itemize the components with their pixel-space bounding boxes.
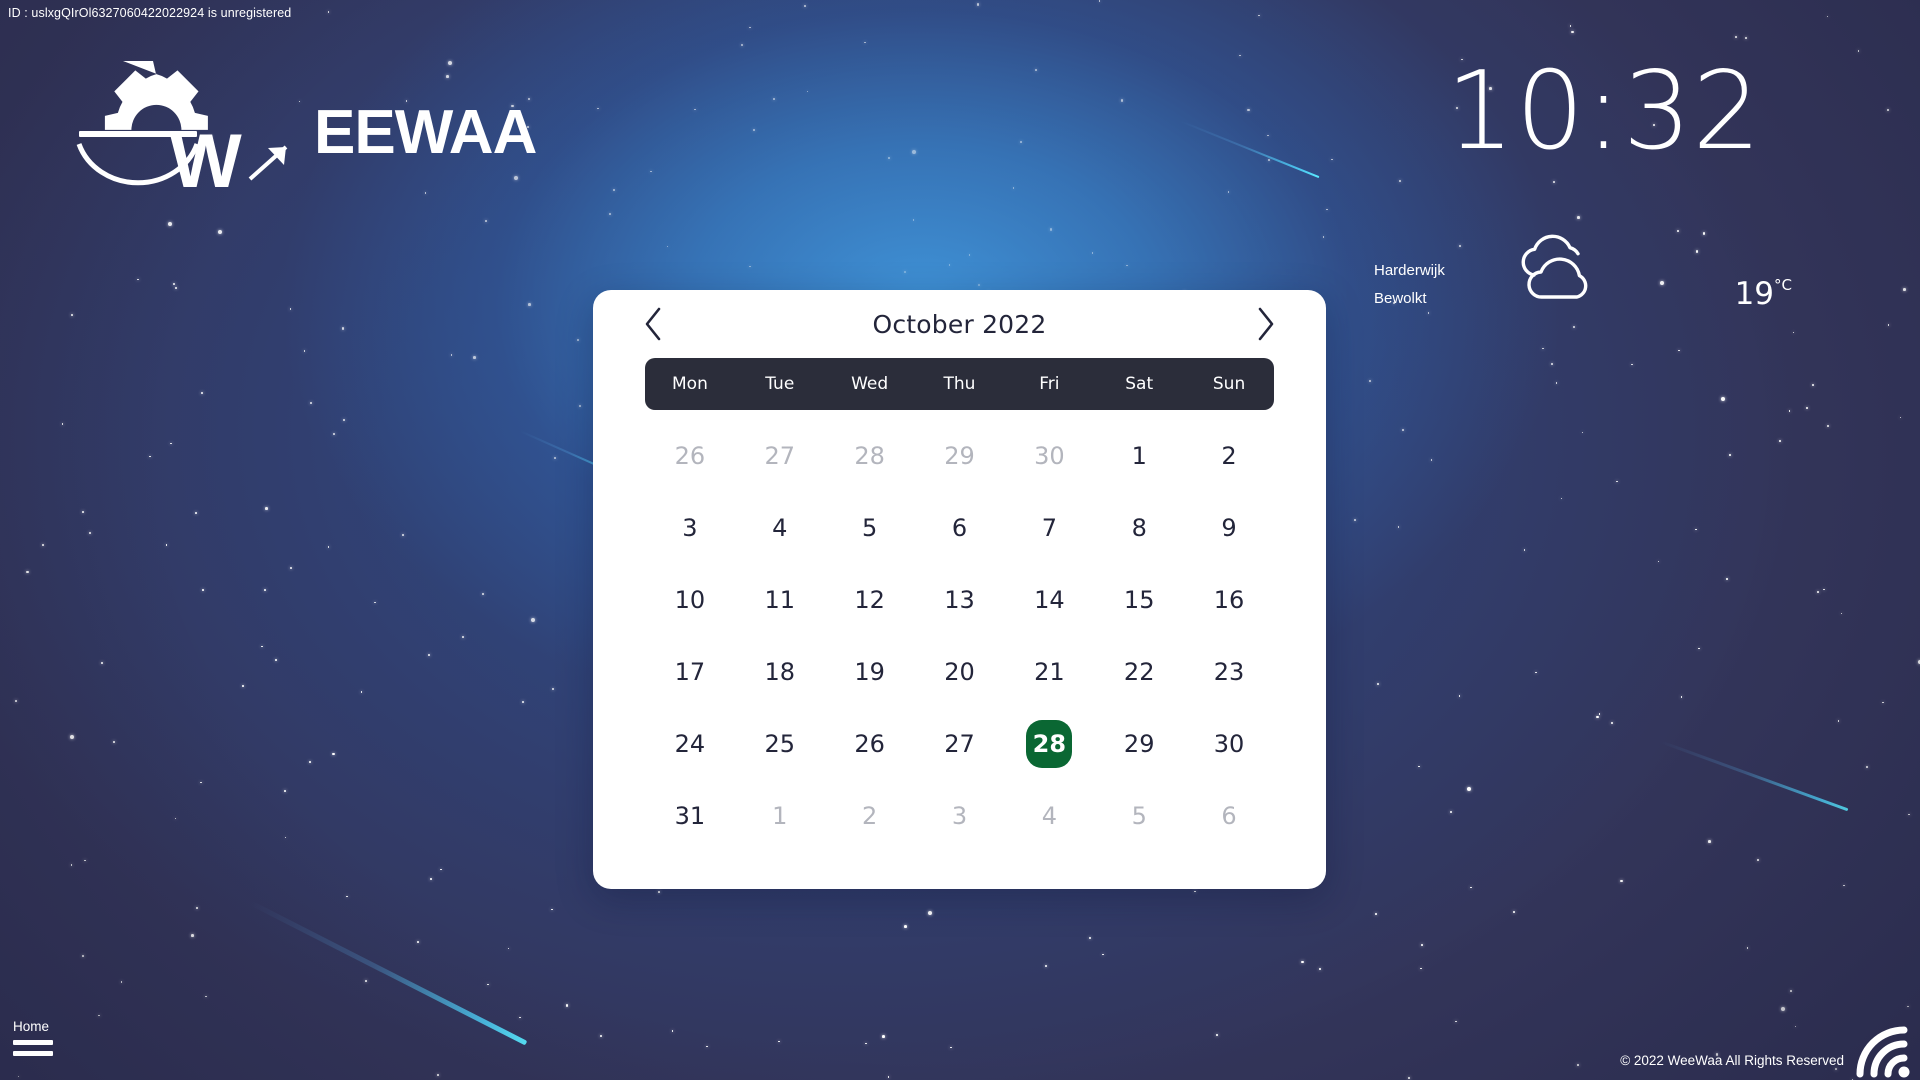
calendar-day[interactable]: 29 — [1094, 708, 1184, 780]
calendar-weekday-bar: MonTueWedThuFriSatSun — [645, 358, 1274, 410]
calendar-day-label: 26 — [847, 720, 893, 768]
calendar-day[interactable]: 29 — [915, 420, 1005, 492]
calendar-day[interactable]: 16 — [1184, 564, 1274, 636]
clock-widget: 10:32 — [1434, 58, 1774, 166]
calendar-day[interactable]: 18 — [735, 636, 825, 708]
calendar-day[interactable]: 6 — [1184, 780, 1274, 852]
calendar-day-label: 8 — [1116, 504, 1162, 552]
calendar-day-label: 22 — [1116, 648, 1162, 696]
calendar-day-label: 23 — [1206, 648, 1252, 696]
calendar-day[interactable]: 3 — [915, 780, 1005, 852]
calendar-day-label: 30 — [1026, 432, 1072, 480]
calendar-day-label: 11 — [757, 576, 803, 624]
calendar-day-label: 17 — [667, 648, 713, 696]
weather-city: Harderwijk — [1374, 262, 1445, 279]
calendar-day[interactable]: 5 — [825, 492, 915, 564]
calendar-day[interactable]: 6 — [915, 492, 1005, 564]
calendar-day-label: 7 — [1026, 504, 1072, 552]
calendar-day-label: 28 — [847, 432, 893, 480]
copyright-text: © 2022 WeeWaa All Rights Reserved — [1620, 1053, 1844, 1068]
calendar-day-label: 13 — [936, 576, 982, 624]
calendar-day-label: 5 — [847, 504, 893, 552]
calendar-day-label: 28 — [1026, 720, 1072, 768]
calendar-day-label: 18 — [757, 648, 803, 696]
calendar-day-label: 1 — [757, 792, 803, 840]
calendar-day[interactable]: 20 — [915, 636, 1005, 708]
calendar-day-selected[interactable]: 28 — [1004, 708, 1094, 780]
calendar-day[interactable]: 31 — [645, 780, 735, 852]
calendar-day[interactable]: 23 — [1184, 636, 1274, 708]
brand-wordmark: EEWAA — [314, 97, 536, 168]
calendar-day[interactable]: 2 — [825, 780, 915, 852]
calendar-day-label: 2 — [1206, 432, 1252, 480]
weather-temp-value: 19 — [1735, 276, 1774, 312]
calendar-card: October 2022 MonTueWedThuFriSatSun 26272… — [593, 290, 1326, 889]
unregistered-notice: ID : uslxgQIrOl6327060422022924 is unreg… — [8, 6, 291, 20]
calendar-day[interactable]: 1 — [735, 780, 825, 852]
hamburger-line — [13, 1040, 53, 1045]
calendar-day[interactable]: 10 — [645, 564, 735, 636]
calendar-day-label: 1 — [1116, 432, 1162, 480]
calendar-title: October 2022 — [671, 310, 1248, 339]
calendar-day-label: 24 — [667, 720, 713, 768]
calendar-day-label: 9 — [1206, 504, 1252, 552]
calendar-day-label: 4 — [1026, 792, 1072, 840]
calendar-day[interactable]: 7 — [1004, 492, 1094, 564]
calendar-day-label: 3 — [667, 504, 713, 552]
calendar-day[interactable]: 4 — [735, 492, 825, 564]
calendar-weekday-fri: Fri — [1004, 374, 1094, 394]
calendar-day-label: 26 — [667, 432, 713, 480]
calendar-day[interactable]: 9 — [1184, 492, 1274, 564]
calendar-day-label: 27 — [757, 432, 803, 480]
calendar-day[interactable]: 26 — [825, 708, 915, 780]
calendar-day[interactable]: 12 — [825, 564, 915, 636]
calendar-day-label: 31 — [667, 792, 713, 840]
calendar-day[interactable]: 28 — [825, 420, 915, 492]
calendar-weekday-sun: Sun — [1184, 374, 1274, 394]
calendar-day[interactable]: 14 — [1004, 564, 1094, 636]
calendar-day[interactable]: 13 — [915, 564, 1005, 636]
calendar-day-grid: 2627282930123456789101112131415161718192… — [645, 420, 1274, 852]
calendar-day[interactable]: 3 — [645, 492, 735, 564]
calendar-day-label: 4 — [757, 504, 803, 552]
calendar-day-label: 10 — [667, 576, 713, 624]
clock-time: 10:32 — [1434, 58, 1774, 166]
logo-w-arrow-icon: W — [168, 121, 298, 201]
calendar-day[interactable]: 26 — [645, 420, 735, 492]
calendar-day[interactable]: 1 — [1094, 420, 1184, 492]
wifi-signal-icon — [1854, 1024, 1916, 1080]
calendar-day[interactable]: 25 — [735, 708, 825, 780]
calendar-day-label: 15 — [1116, 576, 1162, 624]
chevron-right-icon — [1256, 307, 1276, 341]
desktop-screen: ID : uslxgQIrOl6327060422022924 is unreg… — [0, 0, 1920, 1080]
calendar-day[interactable]: 4 — [1004, 780, 1094, 852]
chevron-left-icon — [643, 307, 663, 341]
calendar-prev-month-button[interactable] — [635, 301, 671, 347]
calendar-day-label: 3 — [936, 792, 982, 840]
calendar-day-label: 6 — [936, 504, 982, 552]
calendar-day[interactable]: 15 — [1094, 564, 1184, 636]
calendar-day-label: 12 — [847, 576, 893, 624]
calendar-day[interactable]: 11 — [735, 564, 825, 636]
weather-widget: Harderwijk Bewolkt 19°C — [1374, 220, 1794, 310]
cloudy-icon — [1498, 230, 1604, 306]
calendar-weekday-tue: Tue — [735, 374, 825, 394]
calendar-header: October 2022 — [593, 290, 1326, 358]
calendar-weekday-mon: Mon — [645, 374, 735, 394]
weather-temperature: 19°C — [1735, 276, 1792, 312]
calendar-day-label: 21 — [1026, 648, 1072, 696]
calendar-day[interactable]: 22 — [1094, 636, 1184, 708]
weather-temp-unit: °C — [1774, 276, 1792, 294]
calendar-day-label: 25 — [757, 720, 803, 768]
calendar-day-label: 2 — [847, 792, 893, 840]
hamburger-menu-icon[interactable] — [13, 1040, 53, 1056]
calendar-day-label: 29 — [936, 432, 982, 480]
svg-text:W: W — [170, 121, 242, 201]
calendar-day[interactable]: 27 — [915, 708, 1005, 780]
calendar-day[interactable]: 19 — [825, 636, 915, 708]
calendar-day[interactable]: 21 — [1004, 636, 1094, 708]
calendar-day[interactable]: 27 — [735, 420, 825, 492]
calendar-day[interactable]: 17 — [645, 636, 735, 708]
home-label: Home — [13, 1019, 69, 1034]
weather-description: Bewolkt — [1374, 290, 1427, 307]
calendar-day[interactable]: 30 — [1184, 708, 1274, 780]
calendar-day[interactable]: 2 — [1184, 420, 1274, 492]
calendar-day-label: 16 — [1206, 576, 1252, 624]
calendar-day[interactable]: 5 — [1094, 780, 1184, 852]
calendar-day-label: 5 — [1116, 792, 1162, 840]
calendar-day[interactable]: 24 — [645, 708, 735, 780]
home-menu-button[interactable]: Home — [13, 1019, 69, 1062]
calendar-next-month-button[interactable] — [1248, 301, 1284, 347]
calendar-day-label: 14 — [1026, 576, 1072, 624]
calendar-day-label: 30 — [1206, 720, 1252, 768]
hamburger-line — [13, 1051, 53, 1056]
calendar-weekday-sat: Sat — [1094, 374, 1184, 394]
calendar-day-label: 20 — [936, 648, 982, 696]
calendar-day-label: 6 — [1206, 792, 1252, 840]
calendar-day-label: 27 — [936, 720, 982, 768]
brand-logo: EEWAA W — [68, 55, 538, 210]
calendar-day[interactable]: 8 — [1094, 492, 1184, 564]
calendar-day-label: 29 — [1116, 720, 1162, 768]
calendar-day-label: 19 — [847, 648, 893, 696]
calendar-day[interactable]: 30 — [1004, 420, 1094, 492]
calendar-weekday-wed: Wed — [825, 374, 915, 394]
calendar-weekday-thu: Thu — [915, 374, 1005, 394]
